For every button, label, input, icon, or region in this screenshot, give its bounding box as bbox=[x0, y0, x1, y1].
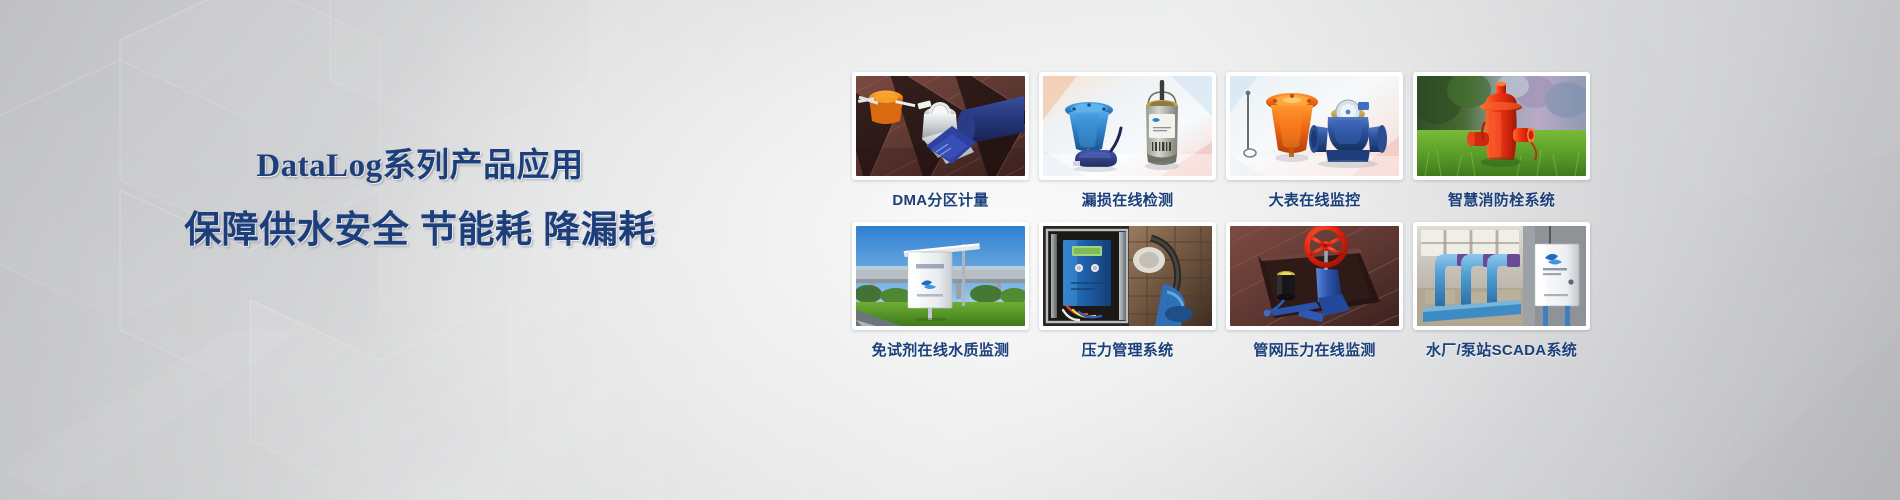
pump-station-with-control-cabinet-image bbox=[1417, 226, 1586, 326]
product-card-dma[interactable]: DMA分区计量 bbox=[852, 72, 1029, 210]
dma-flow-meter-on-brick-pavement-image bbox=[856, 76, 1025, 176]
thumbnail-frame[interactable] bbox=[852, 72, 1029, 180]
thumbnail-frame[interactable] bbox=[1413, 72, 1590, 180]
product-card-pipe-pressure[interactable]: 管网压力在线监测 bbox=[1226, 222, 1403, 360]
outdoor-water-quality-monitoring-cabinet-image bbox=[856, 226, 1025, 326]
headline-line-1: DataLog系列产品应用 bbox=[0, 150, 840, 183]
product-row: 免试剂在线水质监测 bbox=[852, 222, 1592, 360]
product-card-large-meter[interactable]: 大表在线监控 bbox=[1226, 72, 1403, 210]
blue-control-panel-in-enclosure-image bbox=[1043, 226, 1212, 326]
product-card-label: 大表在线监控 bbox=[1269, 189, 1361, 210]
product-grid: DMA分区计量 bbox=[852, 72, 1592, 372]
product-card-label: 水厂/泵站SCADA系统 bbox=[1426, 339, 1577, 360]
product-banner: DataLog系列产品应用 保障供水安全 节能耗 降漏耗 bbox=[0, 0, 1900, 500]
product-card-label: 压力管理系统 bbox=[1082, 339, 1174, 360]
product-card-scada[interactable]: 水厂/泵站SCADA系统 bbox=[1413, 222, 1590, 360]
red-valve-wheel-in-brick-chamber-image bbox=[1230, 226, 1399, 326]
product-card-label: 免试剂在线水质监测 bbox=[872, 339, 1010, 360]
thumbnail-frame[interactable] bbox=[1039, 222, 1216, 330]
orange-cap-and-blue-water-meter-image bbox=[1230, 76, 1399, 176]
product-row: DMA分区计量 bbox=[852, 72, 1592, 210]
red-fire-hydrant-on-grass-image bbox=[1417, 76, 1586, 176]
thumbnail-frame[interactable] bbox=[1413, 222, 1590, 330]
product-card-label: 漏损在线检测 bbox=[1082, 189, 1174, 210]
product-card-water-quality[interactable]: 免试剂在线水质监测 bbox=[852, 222, 1029, 360]
product-card-label: 智慧消防栓系统 bbox=[1448, 189, 1555, 210]
headline-block: DataLog系列产品应用 保障供水安全 节能耗 降漏耗 bbox=[0, 150, 840, 248]
product-card-label: DMA分区计量 bbox=[892, 189, 988, 210]
thumbnail-frame[interactable] bbox=[1226, 222, 1403, 330]
thumbnail-frame[interactable] bbox=[1039, 72, 1216, 180]
product-card-label: 管网压力在线监测 bbox=[1253, 339, 1375, 360]
product-card-leak-detection[interactable]: 漏损在线检测 bbox=[1039, 72, 1216, 210]
headline-line-2: 保障供水安全 节能耗 降漏耗 bbox=[0, 211, 840, 248]
blue-leak-detection-sensors-image bbox=[1043, 76, 1212, 176]
product-card-pressure-management[interactable]: 压力管理系统 bbox=[1039, 222, 1216, 360]
thumbnail-frame[interactable] bbox=[852, 222, 1029, 330]
product-card-smart-hydrant[interactable]: 智慧消防栓系统 bbox=[1413, 72, 1590, 210]
thumbnail-frame[interactable] bbox=[1226, 72, 1403, 180]
